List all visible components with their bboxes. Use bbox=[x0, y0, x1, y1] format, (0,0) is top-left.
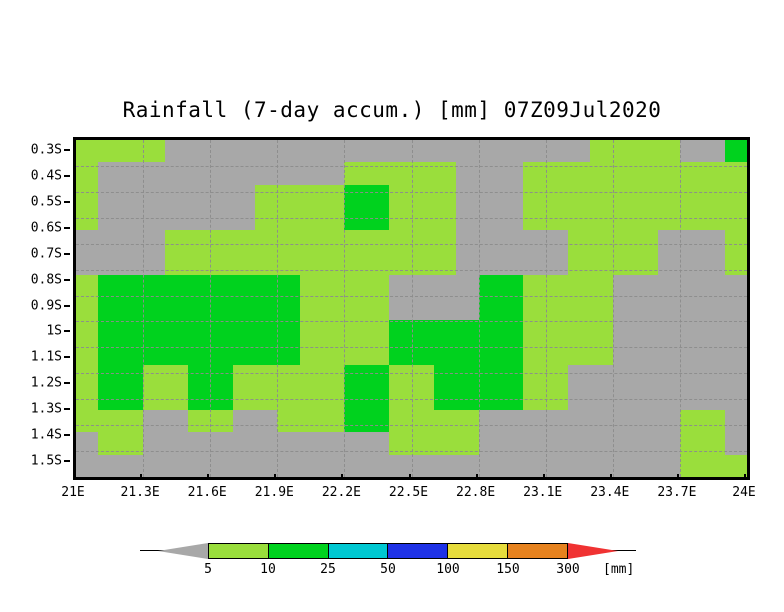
colorbar-tick-label: 25 bbox=[320, 562, 336, 577]
heatmap-cell bbox=[255, 230, 277, 252]
heatmap-cell bbox=[546, 207, 568, 229]
heatmap-cell bbox=[546, 365, 568, 387]
heatmap-cell bbox=[277, 162, 299, 184]
heatmap-cell bbox=[98, 297, 120, 319]
heatmap-cell bbox=[568, 140, 590, 162]
y-axis-tick-mark bbox=[64, 460, 70, 462]
heatmap-cell bbox=[188, 162, 210, 184]
heatmap-cell bbox=[143, 342, 165, 364]
heatmap-cell bbox=[210, 455, 232, 477]
x-axis-tick-mark bbox=[140, 474, 142, 480]
heatmap-cell bbox=[165, 320, 187, 342]
heatmap-cell bbox=[613, 162, 635, 184]
x-axis-tick-mark bbox=[409, 474, 411, 480]
colorbar-tick-label: 100 bbox=[436, 562, 459, 577]
x-axis-tick-label: 22.2E bbox=[322, 485, 361, 500]
heatmap-cell bbox=[188, 252, 210, 274]
heatmap-cell bbox=[635, 252, 657, 274]
heatmap-cell bbox=[76, 387, 98, 409]
heatmap-cell bbox=[76, 230, 98, 252]
heatmap-cell bbox=[277, 455, 299, 477]
heatmap-cell bbox=[98, 410, 120, 432]
heatmap-cell bbox=[143, 365, 165, 387]
heatmap-cell bbox=[568, 162, 590, 184]
x-axis-tick-mark bbox=[274, 474, 276, 480]
heatmap-cell bbox=[546, 275, 568, 297]
heatmap-cell bbox=[434, 185, 456, 207]
heatmap-cell bbox=[479, 162, 501, 184]
heatmap-cell bbox=[501, 387, 523, 409]
heatmap-cell bbox=[98, 455, 120, 477]
heatmap-cell bbox=[523, 432, 545, 454]
heatmap-cell bbox=[233, 140, 255, 162]
heatmap-cell bbox=[702, 455, 724, 477]
heatmap-cell bbox=[523, 207, 545, 229]
heatmap-cell bbox=[725, 185, 747, 207]
heatmap-cell bbox=[367, 387, 389, 409]
heatmap-cell bbox=[188, 387, 210, 409]
x-axis-tick-mark bbox=[476, 474, 478, 480]
heatmap-cell bbox=[210, 432, 232, 454]
heatmap-cell bbox=[568, 207, 590, 229]
heatmap-cell bbox=[658, 320, 680, 342]
heatmap-cell bbox=[635, 387, 657, 409]
heatmap-cell bbox=[523, 410, 545, 432]
heatmap-cell bbox=[680, 387, 702, 409]
y-axis-tick-label: 0.7S bbox=[31, 246, 62, 261]
heatmap-cell bbox=[344, 387, 366, 409]
heatmap-cell bbox=[456, 185, 478, 207]
heatmap-cell bbox=[233, 410, 255, 432]
heatmap-cell bbox=[255, 162, 277, 184]
heatmap-cell bbox=[702, 365, 724, 387]
heatmap-cell bbox=[76, 162, 98, 184]
heatmap-cell bbox=[165, 207, 187, 229]
heatmap-cell bbox=[344, 275, 366, 297]
heatmap-cell bbox=[367, 432, 389, 454]
y-axis-tick-mark bbox=[64, 149, 70, 151]
heatmap-cell bbox=[121, 410, 143, 432]
heatmap-cell bbox=[546, 410, 568, 432]
heatmap-cell bbox=[344, 185, 366, 207]
heatmap-cell bbox=[434, 230, 456, 252]
heatmap-cell bbox=[165, 365, 187, 387]
heatmap-cell bbox=[501, 275, 523, 297]
heatmap-cell bbox=[412, 342, 434, 364]
heatmap-cell bbox=[523, 275, 545, 297]
heatmap-cell bbox=[76, 252, 98, 274]
heatmap-cell bbox=[367, 365, 389, 387]
heatmap-cell bbox=[479, 342, 501, 364]
heatmap-cell bbox=[590, 342, 612, 364]
heatmap-cell bbox=[479, 410, 501, 432]
heatmap-cell bbox=[568, 342, 590, 364]
heatmap-cell bbox=[412, 140, 434, 162]
heatmap-cell bbox=[233, 230, 255, 252]
heatmap-cell bbox=[344, 162, 366, 184]
heatmap-cell bbox=[725, 162, 747, 184]
heatmap-cell bbox=[434, 387, 456, 409]
heatmap-cell bbox=[658, 432, 680, 454]
heatmap-cell bbox=[613, 207, 635, 229]
heatmap-cell bbox=[98, 185, 120, 207]
page-title: Rainfall (7-day accum.) [mm] 07Z09Jul202… bbox=[0, 98, 784, 122]
heatmap-cell bbox=[98, 342, 120, 364]
heatmap-cell bbox=[523, 252, 545, 274]
heatmap-cell bbox=[233, 207, 255, 229]
heatmap-cell bbox=[479, 365, 501, 387]
heatmap-cell bbox=[456, 162, 478, 184]
heatmap-cell bbox=[389, 410, 411, 432]
heatmap-cell bbox=[98, 365, 120, 387]
heatmap-cell bbox=[635, 365, 657, 387]
heatmap-cell bbox=[479, 387, 501, 409]
heatmap-cell bbox=[635, 207, 657, 229]
y-axis-tick-label: 1.2S bbox=[31, 376, 62, 391]
x-axis-tick-label: 23.4E bbox=[590, 485, 629, 500]
heatmap-cell bbox=[434, 342, 456, 364]
heatmap-cell bbox=[613, 252, 635, 274]
heatmap-cell bbox=[322, 140, 344, 162]
heatmap-cell bbox=[590, 320, 612, 342]
heatmap-cell bbox=[412, 230, 434, 252]
heatmap-cell bbox=[635, 185, 657, 207]
heatmap-cell bbox=[98, 230, 120, 252]
heatmap-cell bbox=[702, 162, 724, 184]
heatmap-cell bbox=[635, 320, 657, 342]
heatmap-cell bbox=[210, 185, 232, 207]
heatmap-cell bbox=[255, 320, 277, 342]
heatmap-cell bbox=[121, 207, 143, 229]
y-axis-tick-label: 0.6S bbox=[31, 220, 62, 235]
heatmap-cell bbox=[367, 185, 389, 207]
heatmap-cell bbox=[76, 297, 98, 319]
heatmap-cell bbox=[635, 432, 657, 454]
heatmap-cell bbox=[501, 207, 523, 229]
heatmap-cell bbox=[233, 275, 255, 297]
heatmap-cell bbox=[233, 252, 255, 274]
y-axis-tick-label: 0.8S bbox=[31, 272, 62, 287]
heatmap-cell bbox=[725, 230, 747, 252]
heatmap-cell bbox=[344, 252, 366, 274]
heatmap-cell bbox=[98, 162, 120, 184]
x-axis-tick-mark bbox=[73, 474, 75, 480]
y-axis-tick-mark bbox=[64, 305, 70, 307]
heatmap-cell bbox=[300, 455, 322, 477]
heatmap-cell bbox=[546, 342, 568, 364]
heatmap-cell bbox=[523, 297, 545, 319]
heatmap-cell bbox=[456, 140, 478, 162]
heatmap-cell bbox=[367, 297, 389, 319]
heatmap-cell bbox=[702, 432, 724, 454]
heatmap-cell bbox=[501, 230, 523, 252]
heatmap-cell bbox=[165, 140, 187, 162]
heatmap-cell bbox=[434, 252, 456, 274]
heatmap-cell bbox=[210, 275, 232, 297]
heatmap-cell bbox=[76, 432, 98, 454]
heatmap-cell bbox=[523, 387, 545, 409]
heatmap-cell bbox=[98, 140, 120, 162]
heatmap-cell bbox=[702, 230, 724, 252]
heatmap-cell bbox=[210, 387, 232, 409]
heatmap-cell bbox=[613, 185, 635, 207]
heatmap-cell bbox=[412, 455, 434, 477]
heatmap-cell bbox=[590, 252, 612, 274]
heatmap-cell bbox=[456, 410, 478, 432]
heatmap-cell bbox=[165, 252, 187, 274]
heatmap-cell bbox=[344, 320, 366, 342]
colorbar-bands bbox=[208, 543, 568, 559]
heatmap-cell bbox=[501, 162, 523, 184]
heatmap-cell bbox=[546, 455, 568, 477]
heatmap-cell bbox=[277, 230, 299, 252]
heatmap-cell bbox=[658, 387, 680, 409]
heatmap-cell bbox=[456, 365, 478, 387]
heatmap-cell bbox=[322, 162, 344, 184]
heatmap-cell bbox=[479, 297, 501, 319]
heatmap-cell bbox=[233, 387, 255, 409]
heatmap-cell bbox=[456, 342, 478, 364]
heatmap-cell bbox=[523, 162, 545, 184]
heatmap-cell bbox=[277, 297, 299, 319]
heatmap-cell bbox=[412, 387, 434, 409]
heatmap-cell bbox=[635, 410, 657, 432]
heatmap-cell bbox=[210, 342, 232, 364]
heatmap-cell bbox=[143, 185, 165, 207]
heatmap-cell bbox=[434, 140, 456, 162]
heatmap-cell bbox=[702, 320, 724, 342]
colorbar-underflow-arrow bbox=[158, 543, 208, 559]
heatmap-cell bbox=[188, 207, 210, 229]
heatmap-cell bbox=[344, 455, 366, 477]
heatmap-cell bbox=[143, 387, 165, 409]
x-axis-tick-label: 24E bbox=[732, 485, 755, 500]
y-axis-tick-label: 1.3S bbox=[31, 402, 62, 417]
heatmap-plot-area bbox=[73, 137, 750, 480]
heatmap-cell bbox=[456, 387, 478, 409]
heatmap-cell bbox=[165, 410, 187, 432]
heatmap-cell bbox=[568, 432, 590, 454]
heatmap-cell bbox=[479, 320, 501, 342]
heatmap-cell bbox=[613, 320, 635, 342]
heatmap-cell bbox=[702, 342, 724, 364]
heatmap-cell bbox=[590, 410, 612, 432]
heatmap-cell bbox=[300, 432, 322, 454]
heatmap-cell bbox=[658, 275, 680, 297]
heatmap-cell bbox=[76, 455, 98, 477]
y-axis-tick-label: 1S bbox=[46, 324, 62, 339]
heatmap-cell bbox=[702, 410, 724, 432]
heatmap-cell bbox=[233, 185, 255, 207]
y-axis-tick-label: 1.4S bbox=[31, 428, 62, 443]
heatmap-cell bbox=[568, 320, 590, 342]
heatmap-cell bbox=[590, 275, 612, 297]
heatmap-cell bbox=[680, 365, 702, 387]
heatmap-cell bbox=[546, 252, 568, 274]
heatmap-cell bbox=[277, 342, 299, 364]
heatmap-cell bbox=[300, 320, 322, 342]
heatmap-cell bbox=[344, 432, 366, 454]
heatmap-cell bbox=[434, 297, 456, 319]
heatmap-cell bbox=[635, 230, 657, 252]
heatmap-cell bbox=[322, 365, 344, 387]
heatmap-cell bbox=[702, 275, 724, 297]
heatmap-cell bbox=[568, 455, 590, 477]
heatmap-cell bbox=[121, 342, 143, 364]
colorbar-band-25-50 bbox=[329, 544, 389, 558]
heatmap-cell bbox=[658, 297, 680, 319]
heatmap-cell bbox=[121, 387, 143, 409]
x-axis-tick-mark bbox=[543, 474, 545, 480]
heatmap-cell bbox=[635, 342, 657, 364]
y-axis-tick-mark bbox=[64, 434, 70, 436]
heatmap-cell bbox=[210, 252, 232, 274]
heatmap-cell bbox=[434, 162, 456, 184]
colorbar-tick-label: 50 bbox=[380, 562, 396, 577]
heatmap-cell bbox=[322, 410, 344, 432]
heatmap-cell bbox=[255, 275, 277, 297]
heatmap-cell bbox=[233, 432, 255, 454]
x-axis: 21E21.3E21.6E21.9E22.2E22.5E22.8E23.1E23… bbox=[73, 477, 744, 507]
heatmap-cell bbox=[389, 162, 411, 184]
heatmap-cell bbox=[322, 230, 344, 252]
heatmap-cell bbox=[389, 140, 411, 162]
heatmap-cell bbox=[680, 320, 702, 342]
heatmap-cell bbox=[613, 342, 635, 364]
heatmap-cell bbox=[367, 275, 389, 297]
heatmap-cell bbox=[389, 185, 411, 207]
heatmap-cell bbox=[210, 140, 232, 162]
heatmap-cell bbox=[322, 387, 344, 409]
heatmap-cell bbox=[523, 365, 545, 387]
heatmap-cell bbox=[456, 275, 478, 297]
heatmap-cell bbox=[412, 185, 434, 207]
heatmap-cell bbox=[546, 297, 568, 319]
heatmap-cell bbox=[76, 342, 98, 364]
heatmap-cell bbox=[277, 140, 299, 162]
heatmap-cell bbox=[501, 185, 523, 207]
heatmap-cell bbox=[680, 275, 702, 297]
heatmap-cell bbox=[613, 410, 635, 432]
heatmap-cell bbox=[613, 275, 635, 297]
heatmap-cell bbox=[165, 162, 187, 184]
heatmap-cell bbox=[412, 410, 434, 432]
heatmap-cell bbox=[725, 320, 747, 342]
heatmap-cell bbox=[210, 230, 232, 252]
heatmap-cell bbox=[98, 320, 120, 342]
heatmap-cell bbox=[479, 252, 501, 274]
heatmap-cell bbox=[546, 387, 568, 409]
heatmap-cell bbox=[613, 140, 635, 162]
y-axis-tick-mark bbox=[64, 201, 70, 203]
heatmap-cell bbox=[255, 410, 277, 432]
x-axis-tick-label: 23.7E bbox=[657, 485, 696, 500]
heatmap-cell bbox=[255, 365, 277, 387]
heatmap-cell bbox=[635, 275, 657, 297]
heatmap-cell bbox=[188, 185, 210, 207]
heatmap-cell bbox=[344, 365, 366, 387]
heatmap-cell bbox=[702, 387, 724, 409]
heatmap-cell bbox=[590, 185, 612, 207]
heatmap-cell bbox=[613, 297, 635, 319]
heatmap-cell bbox=[389, 275, 411, 297]
heatmap-cell bbox=[322, 207, 344, 229]
heatmap-cell bbox=[479, 185, 501, 207]
x-axis-tick-mark bbox=[341, 474, 343, 480]
heatmap-cell bbox=[412, 297, 434, 319]
heatmap-cell bbox=[635, 455, 657, 477]
y-axis-tick-mark bbox=[64, 356, 70, 358]
heatmap-cell bbox=[434, 455, 456, 477]
colorbar-band-150-300 bbox=[508, 544, 567, 558]
colorbar-band-50-100 bbox=[388, 544, 448, 558]
heatmap-cell bbox=[143, 162, 165, 184]
heatmap-cell bbox=[300, 342, 322, 364]
heatmap-cell bbox=[367, 162, 389, 184]
heatmap-cell bbox=[143, 207, 165, 229]
heatmap-cell bbox=[389, 297, 411, 319]
y-axis-tick-mark bbox=[64, 382, 70, 384]
heatmap-cell bbox=[590, 207, 612, 229]
heatmap-cell bbox=[344, 207, 366, 229]
heatmap-cell bbox=[344, 342, 366, 364]
heatmap-cell bbox=[367, 342, 389, 364]
heatmap-cell bbox=[367, 207, 389, 229]
heatmap-cell bbox=[277, 275, 299, 297]
heatmap-cell bbox=[501, 320, 523, 342]
heatmap-cell bbox=[322, 185, 344, 207]
heatmap-cell bbox=[680, 432, 702, 454]
colorbar-band-10-25 bbox=[269, 544, 329, 558]
heatmap-cell bbox=[434, 410, 456, 432]
heatmap-cell bbox=[456, 252, 478, 274]
heatmap-cell bbox=[590, 387, 612, 409]
heatmap-cell bbox=[680, 410, 702, 432]
heatmap-cell bbox=[367, 455, 389, 477]
heatmap-cell bbox=[188, 140, 210, 162]
heatmap-cell bbox=[546, 320, 568, 342]
x-axis-tick-mark bbox=[677, 474, 679, 480]
heatmap-cell bbox=[725, 275, 747, 297]
heatmap-cell bbox=[658, 252, 680, 274]
heatmap-cell bbox=[680, 185, 702, 207]
colorbar-tick-label: 5 bbox=[204, 562, 212, 577]
heatmap-cell bbox=[121, 432, 143, 454]
colorbar-tick-label: 300 bbox=[556, 562, 579, 577]
heatmap-cell bbox=[233, 320, 255, 342]
heatmap-cell bbox=[367, 252, 389, 274]
heatmap-cell bbox=[143, 432, 165, 454]
heatmap-cell bbox=[434, 320, 456, 342]
heatmap-cell bbox=[300, 297, 322, 319]
heatmap-cell bbox=[322, 252, 344, 274]
heatmap-cell bbox=[277, 387, 299, 409]
heatmap-cell bbox=[367, 140, 389, 162]
heatmap-cell bbox=[568, 275, 590, 297]
heatmap-cell bbox=[412, 365, 434, 387]
heatmap-cell bbox=[658, 365, 680, 387]
heatmap-cell bbox=[590, 162, 612, 184]
heatmap-cell bbox=[546, 230, 568, 252]
heatmap-cell bbox=[546, 432, 568, 454]
heatmap-cell bbox=[143, 230, 165, 252]
heatmap-cell bbox=[188, 230, 210, 252]
heatmap-cell bbox=[702, 185, 724, 207]
x-axis-tick-label: 21.6E bbox=[188, 485, 227, 500]
heatmap-cell bbox=[143, 455, 165, 477]
heatmap-cell bbox=[143, 275, 165, 297]
heatmap-cell bbox=[210, 162, 232, 184]
